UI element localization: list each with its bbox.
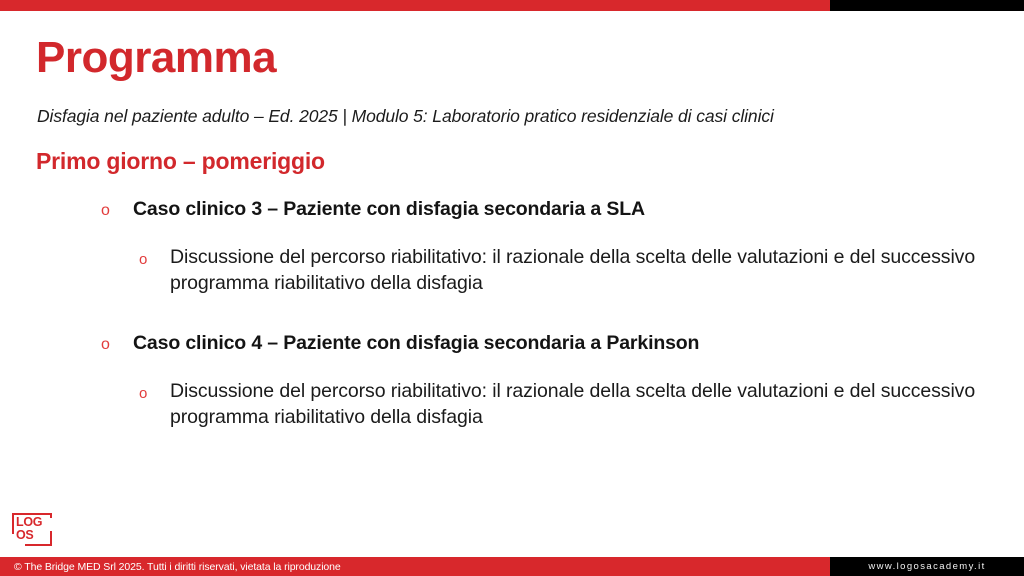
list-item: o Discussione del percorso riabilitativo…: [0, 378, 1024, 430]
list-item: o Caso clinico 3 – Paziente con disfagia…: [0, 196, 1024, 226]
bullet-circle-icon: o: [101, 335, 110, 355]
top-accent-bar-red: [0, 0, 830, 11]
bullet-circle-icon: o: [139, 250, 147, 270]
section-heading: Primo giorno – pomeriggio: [36, 146, 325, 176]
logos-logo: LOG OS: [12, 513, 52, 546]
course-subtitle: Disfagia nel paziente adulto – Ed. 2025 …: [37, 105, 774, 127]
bullet-circle-icon: o: [101, 201, 110, 221]
footer-copyright-area: © The Bridge MED Srl 2025. Tutti i dirit…: [0, 557, 830, 576]
logo-wordmark: LOG OS: [16, 516, 42, 542]
footer-website-area[interactable]: www.logosacademy.it: [830, 557, 1024, 576]
footer-website-text[interactable]: www.logosacademy.it: [868, 561, 985, 572]
list-item: o Discussione del percorso riabilitativo…: [0, 244, 1024, 296]
list-item: o Caso clinico 4 – Paziente con disfagia…: [0, 330, 1024, 360]
group-spacer: [0, 310, 1024, 330]
case-heading: Caso clinico 3 – Paziente con disfagia s…: [133, 198, 645, 220]
slide: Programma Disfagia nel paziente adulto –…: [0, 0, 1024, 576]
logo-line-2: OS: [16, 529, 42, 542]
case-detail: Discussione del percorso riabilitativo: …: [170, 246, 975, 294]
top-accent-bar: [0, 0, 1024, 11]
top-accent-bar-black: [830, 0, 1024, 11]
footer-bar: © The Bridge MED Srl 2025. Tutti i dirit…: [0, 557, 1024, 576]
bullet-circle-icon: o: [139, 384, 147, 404]
case-detail: Discussione del percorso riabilitativo: …: [170, 380, 975, 428]
footer-copyright-text: © The Bridge MED Srl 2025. Tutti i dirit…: [14, 561, 341, 573]
page-title: Programma: [36, 33, 276, 83]
agenda-list: o Caso clinico 3 – Paziente con disfagia…: [0, 196, 1024, 444]
logo-notch-top-right: [48, 518, 53, 531]
case-heading: Caso clinico 4 – Paziente con disfagia s…: [133, 332, 699, 354]
